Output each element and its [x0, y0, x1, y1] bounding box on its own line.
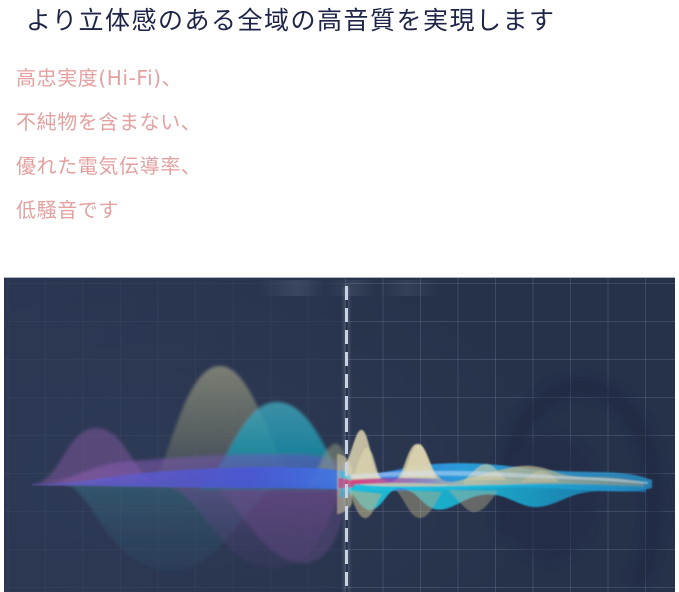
audio-waveform-illustration: [4, 277, 675, 592]
feature-line-3: 優れた電気伝導率、: [16, 144, 436, 188]
waveform-graphic: [4, 278, 675, 592]
dashed-divider-line: [345, 286, 348, 592]
feature-line-1: 高忠実度(Hi-Fi)、: [16, 56, 436, 100]
feature-line-2: 不純物を含まない、: [16, 100, 436, 144]
feature-line-4: 低騒音です: [16, 188, 436, 232]
page-title: より立体感のある全域の高音質を実現します: [26, 4, 556, 38]
feature-list: 高忠実度(Hi-Fi)、 不純物を含まない、 優れた電気伝導率、 低騒音です: [16, 56, 436, 232]
faint-top-markings: [259, 280, 449, 296]
